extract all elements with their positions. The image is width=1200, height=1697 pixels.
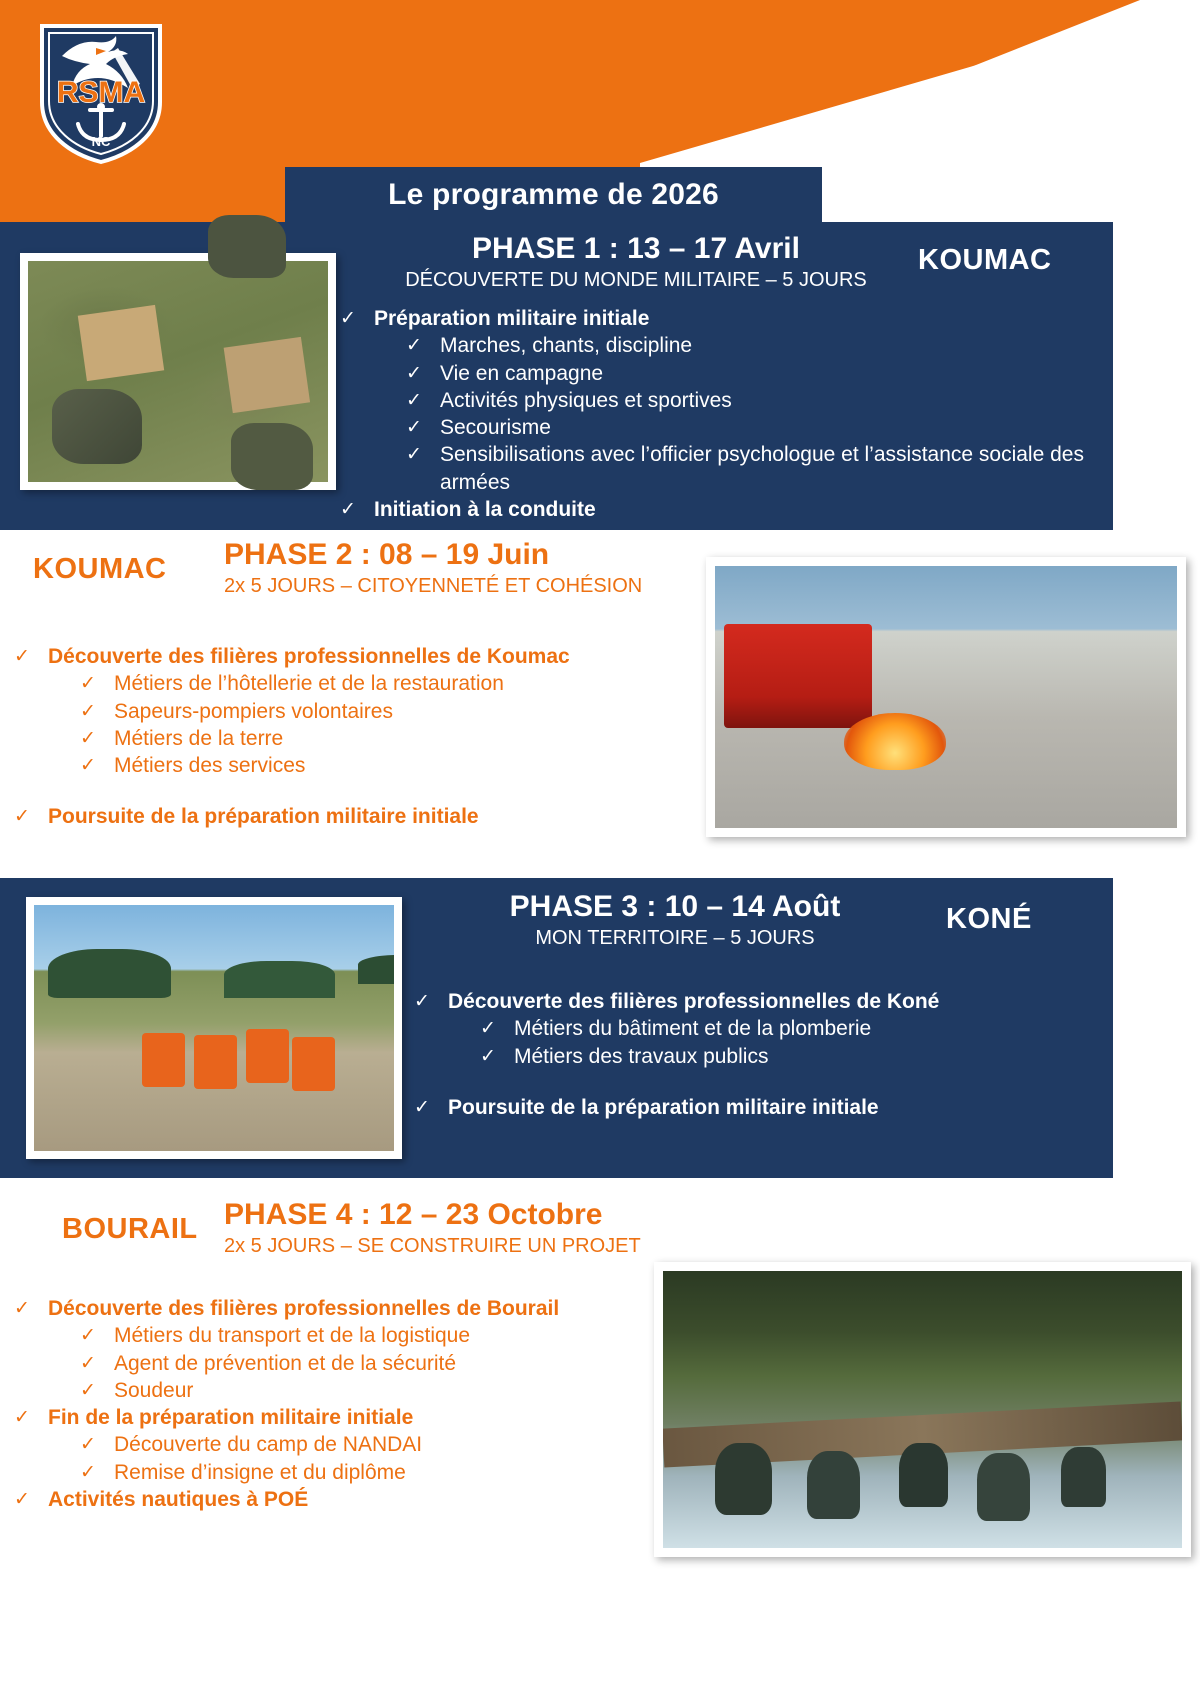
phase-3-subtitle: MON TERRITOIRE – 5 JOURS xyxy=(440,926,910,950)
check-icon: ✓ xyxy=(414,1094,448,1121)
phase-2-title: PHASE 2 : 08 – 19 Juin xyxy=(224,538,642,572)
phase-3-city: KONÉ xyxy=(946,903,1032,936)
check-icon: ✓ xyxy=(406,387,440,414)
phase-2-subtitle: 2x 5 JOURS – CITOYENNETÉ ET COHÉSION xyxy=(224,574,642,598)
phase-3-list: ✓ Découverte des filières professionnell… xyxy=(414,988,1074,1121)
list-item: ✓ Activités physiques et sportives xyxy=(406,387,1100,414)
phase-3-photo-image xyxy=(34,905,394,1151)
check-icon: ✓ xyxy=(414,988,448,1015)
list-item: ✓ Marches, chants, discipline xyxy=(406,332,1100,359)
list-item-label: Métiers de la terre xyxy=(114,725,694,752)
list-item: ✓ Initiation à la conduite xyxy=(340,496,1100,523)
phase-3-title: PHASE 3 : 10 – 14 Août xyxy=(440,890,910,924)
phase-4-city: BOURAIL xyxy=(62,1213,198,1246)
phase-2-list: ✓ Découverte des filières professionnell… xyxy=(14,643,694,831)
list-spacer xyxy=(414,1070,1074,1094)
phase-1-photo-image xyxy=(28,261,328,482)
list-item: ✓ Métiers de la terre xyxy=(80,725,694,752)
check-icon: ✓ xyxy=(340,305,374,332)
list-item: ✓ Métiers de l’hôtellerie et de la resta… xyxy=(80,670,694,697)
list-item-label: Préparation militaire initiale xyxy=(374,305,1100,332)
phase-1-heading: PHASE 1 : 13 – 17 Avril DÉCOUVERTE DU MO… xyxy=(356,232,916,292)
phase-4-heading: PHASE 4 : 12 – 23 Octobre 2x 5 JOURS – S… xyxy=(224,1198,641,1258)
check-icon: ✓ xyxy=(480,1043,514,1070)
list-item-label: Marches, chants, discipline xyxy=(440,332,1100,359)
phase-1-title: PHASE 1 : 13 – 17 Avril xyxy=(356,232,916,266)
list-item: ✓ Remise d’insigne et du diplôme xyxy=(80,1459,654,1486)
list-item-label: Fin de la préparation militaire initiale xyxy=(48,1404,654,1431)
phase-2-heading: PHASE 2 : 08 – 19 Juin 2x 5 JOURS – CITO… xyxy=(224,538,642,598)
phase-1-city: KOUMAC xyxy=(918,244,1052,277)
check-icon: ✓ xyxy=(480,1015,514,1042)
check-icon: ✓ xyxy=(340,496,374,523)
phase-4-list: ✓ Découverte des filières professionnell… xyxy=(14,1295,654,1513)
check-icon: ✓ xyxy=(80,698,114,725)
phase-1-photo xyxy=(20,253,336,490)
check-icon: ✓ xyxy=(14,1486,48,1513)
check-icon: ✓ xyxy=(80,1377,114,1404)
list-item: ✓ Agent de prévention et de la sécurité xyxy=(80,1350,654,1377)
list-item: ✓ Découverte des filières professionnell… xyxy=(14,1295,654,1322)
phase-4-photo-image xyxy=(663,1271,1182,1548)
list-item-label: Découverte des filières professionnelles… xyxy=(448,988,1074,1015)
list-item-label: Vie en campagne xyxy=(440,360,1100,387)
check-icon: ✓ xyxy=(14,803,48,830)
list-item-label: Initiation à la conduite xyxy=(374,496,1100,523)
list-item-label: Métiers de l’hôtellerie et de la restaur… xyxy=(114,670,694,697)
check-icon: ✓ xyxy=(14,1295,48,1322)
check-icon: ✓ xyxy=(406,360,440,387)
list-item-label: Activités nautiques à POÉ xyxy=(48,1486,654,1513)
list-item: ✓ Préparation militaire initiale xyxy=(340,305,1100,332)
list-item: ✓ Métiers des services xyxy=(80,752,694,779)
phase-4-photo xyxy=(654,1262,1191,1557)
phase-2-photo xyxy=(706,557,1186,837)
list-item: ✓ Sapeurs-pompiers volontaires xyxy=(80,698,694,725)
check-icon: ✓ xyxy=(406,332,440,359)
list-item-label: Activités physiques et sportives xyxy=(440,387,1100,414)
phase-4-title: PHASE 4 : 12 – 23 Octobre xyxy=(224,1198,641,1232)
check-icon: ✓ xyxy=(80,752,114,779)
list-item: ✓ Découverte des filières professionnell… xyxy=(414,988,1074,1015)
list-spacer xyxy=(14,779,694,803)
check-icon: ✓ xyxy=(14,1404,48,1431)
list-item-label: Sensibilisations avec l’officier psychol… xyxy=(440,441,1100,496)
list-item-label: Poursuite de la préparation militaire in… xyxy=(48,803,694,830)
list-item-label: Métiers des travaux publics xyxy=(514,1043,1074,1070)
programme-poster: RSMA NC Le programme de 2026 PHASE 1 : 1… xyxy=(0,0,1200,1697)
list-item: ✓ Fin de la préparation militaire initia… xyxy=(14,1404,654,1431)
list-item: ✓ Sensibilisations avec l’officier psych… xyxy=(406,441,1100,496)
phase-3-photo xyxy=(26,897,402,1159)
list-item: ✓ Soudeur xyxy=(80,1377,654,1404)
programme-title-bar: Le programme de 2026 xyxy=(285,167,822,222)
rsma-shield-logo: RSMA NC xyxy=(32,18,170,166)
phase-4-subtitle: 2x 5 JOURS – SE CONSTRUIRE UN PROJET xyxy=(224,1234,641,1258)
phase-2-photo-image xyxy=(715,566,1177,828)
list-item: ✓ Poursuite de la préparation militaire … xyxy=(414,1094,1074,1121)
svg-text:NC: NC xyxy=(92,134,111,149)
list-item-label: Découverte des filières professionnelles… xyxy=(48,1295,654,1322)
phase-2-city: KOUMAC xyxy=(33,553,167,586)
check-icon: ✓ xyxy=(406,441,440,468)
list-item-label: Sapeurs-pompiers volontaires xyxy=(114,698,694,725)
list-item: ✓ Métiers des travaux publics xyxy=(480,1043,1074,1070)
list-item-label: Remise d’insigne et du diplôme xyxy=(114,1459,654,1486)
list-item-label: Soudeur xyxy=(114,1377,654,1404)
list-item: ✓ Activités nautiques à POÉ xyxy=(14,1486,654,1513)
phase-3-heading: PHASE 3 : 10 – 14 Août MON TERRITOIRE – … xyxy=(440,890,910,950)
list-item-label: Découverte du camp de NANDAI xyxy=(114,1431,654,1458)
page-title: Le programme de 2026 xyxy=(388,178,719,212)
list-item: ✓ Poursuite de la préparation militaire … xyxy=(14,803,694,830)
list-item: ✓ Découverte des filières professionnell… xyxy=(14,643,694,670)
list-item-label: Poursuite de la préparation militaire in… xyxy=(448,1094,1074,1121)
phase-1-subtitle: DÉCOUVERTE DU MONDE MILITAIRE – 5 JOURS xyxy=(356,268,916,292)
check-icon: ✓ xyxy=(14,643,48,670)
list-item: ✓ Métiers du transport et de la logistiq… xyxy=(80,1322,654,1349)
check-icon: ✓ xyxy=(80,1322,114,1349)
check-icon: ✓ xyxy=(80,725,114,752)
check-icon: ✓ xyxy=(80,1350,114,1377)
list-item-label: Métiers des services xyxy=(114,752,694,779)
phase-1-list: ✓ Préparation militaire initiale ✓ March… xyxy=(340,305,1100,523)
check-icon: ✓ xyxy=(80,1431,114,1458)
list-item: ✓ Découverte du camp de NANDAI xyxy=(80,1431,654,1458)
list-item: ✓ Secourisme xyxy=(406,414,1100,441)
check-icon: ✓ xyxy=(406,414,440,441)
check-icon: ✓ xyxy=(80,670,114,697)
list-item-label: Métiers du bâtiment et de la plomberie xyxy=(514,1015,1074,1042)
check-icon: ✓ xyxy=(80,1459,114,1486)
list-item-label: Secourisme xyxy=(440,414,1100,441)
list-item-label: Découverte des filières professionnelles… xyxy=(48,643,694,670)
list-item-label: Métiers du transport et de la logistique xyxy=(114,1322,654,1349)
list-item: ✓ Métiers du bâtiment et de la plomberie xyxy=(480,1015,1074,1042)
list-item: ✓ Vie en campagne xyxy=(406,360,1100,387)
list-item-label: Agent de prévention et de la sécurité xyxy=(114,1350,654,1377)
